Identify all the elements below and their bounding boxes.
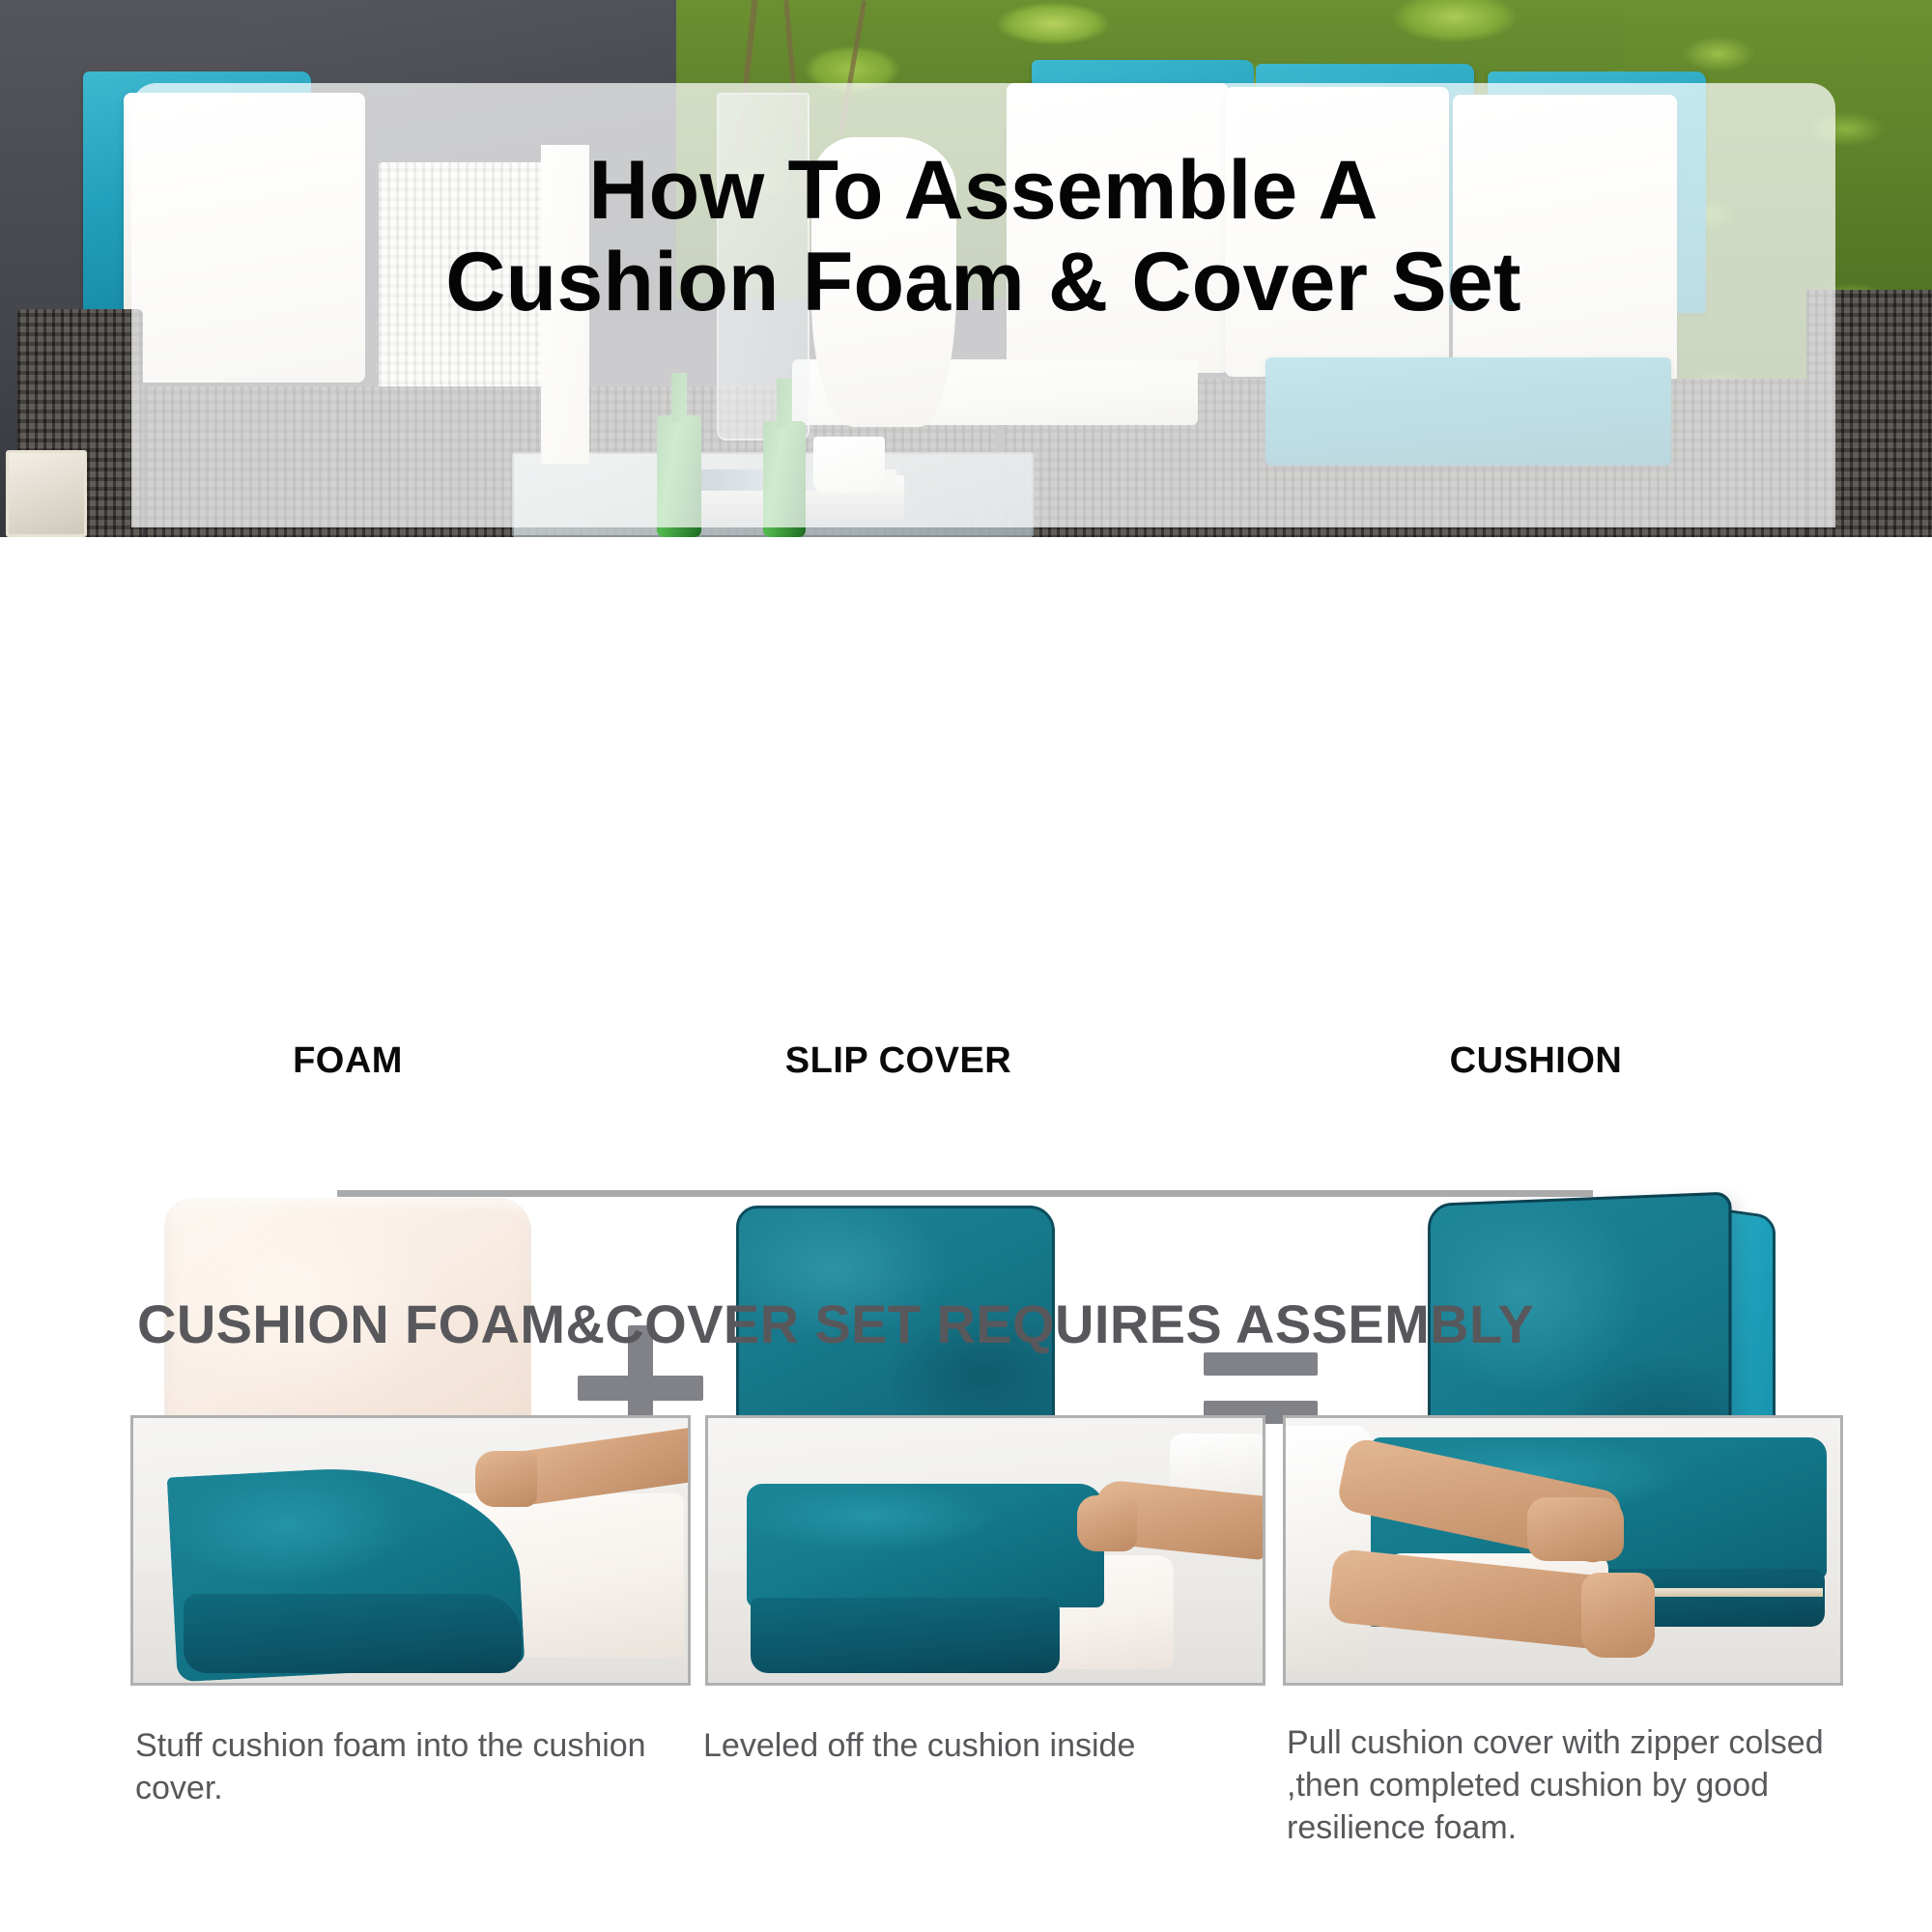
hand-smoothing-cover [1077, 1495, 1137, 1551]
hand-gripping-cover [475, 1451, 537, 1507]
slip-cover-fold [184, 1594, 522, 1673]
step-photo-3 [1283, 1415, 1843, 1686]
step-caption-3: Pull cushion cover with zipper colsed ,t… [1287, 1721, 1847, 1850]
label-cushion: CUSHION [1265, 1040, 1806, 1082]
label-slip-cover: SLIP COVER [638, 1040, 1159, 1082]
section-divider [337, 1190, 1593, 1197]
candle-lantern [6, 450, 87, 537]
infographic-page: How To Assemble A Cushion Foam & Cover S… [0, 0, 1932, 1932]
assembly-steps-photos [0, 1415, 1932, 1705]
assembly-equation [0, 580, 1932, 1043]
hand-pressing-cushion [1527, 1497, 1624, 1561]
cushion-top-face [747, 1484, 1104, 1607]
cushion-gusset [751, 1598, 1060, 1673]
label-foam: FOAM [106, 1040, 589, 1082]
step-caption-2: Leveled off the cushion inside [703, 1724, 1273, 1767]
hero-banner: How To Assemble A Cushion Foam & Cover S… [0, 0, 1932, 537]
step-photo-1 [130, 1415, 691, 1686]
page-title: How To Assemble A Cushion Foam & Cover S… [131, 145, 1835, 327]
hand-pulling-zipper [1581, 1573, 1655, 1658]
step-photo-2 [705, 1415, 1265, 1686]
page-title-line-2: Cushion Foam & Cover Set [131, 237, 1835, 328]
assembly-heading: CUSHION FOAM&COVER SET REQUIRES ASSEMBLY [137, 1293, 1837, 1355]
step-caption-1: Stuff cushion foam into the cushion cove… [135, 1724, 662, 1809]
equals-icon [1204, 1352, 1318, 1424]
page-title-line-1: How To Assemble A [131, 145, 1835, 237]
